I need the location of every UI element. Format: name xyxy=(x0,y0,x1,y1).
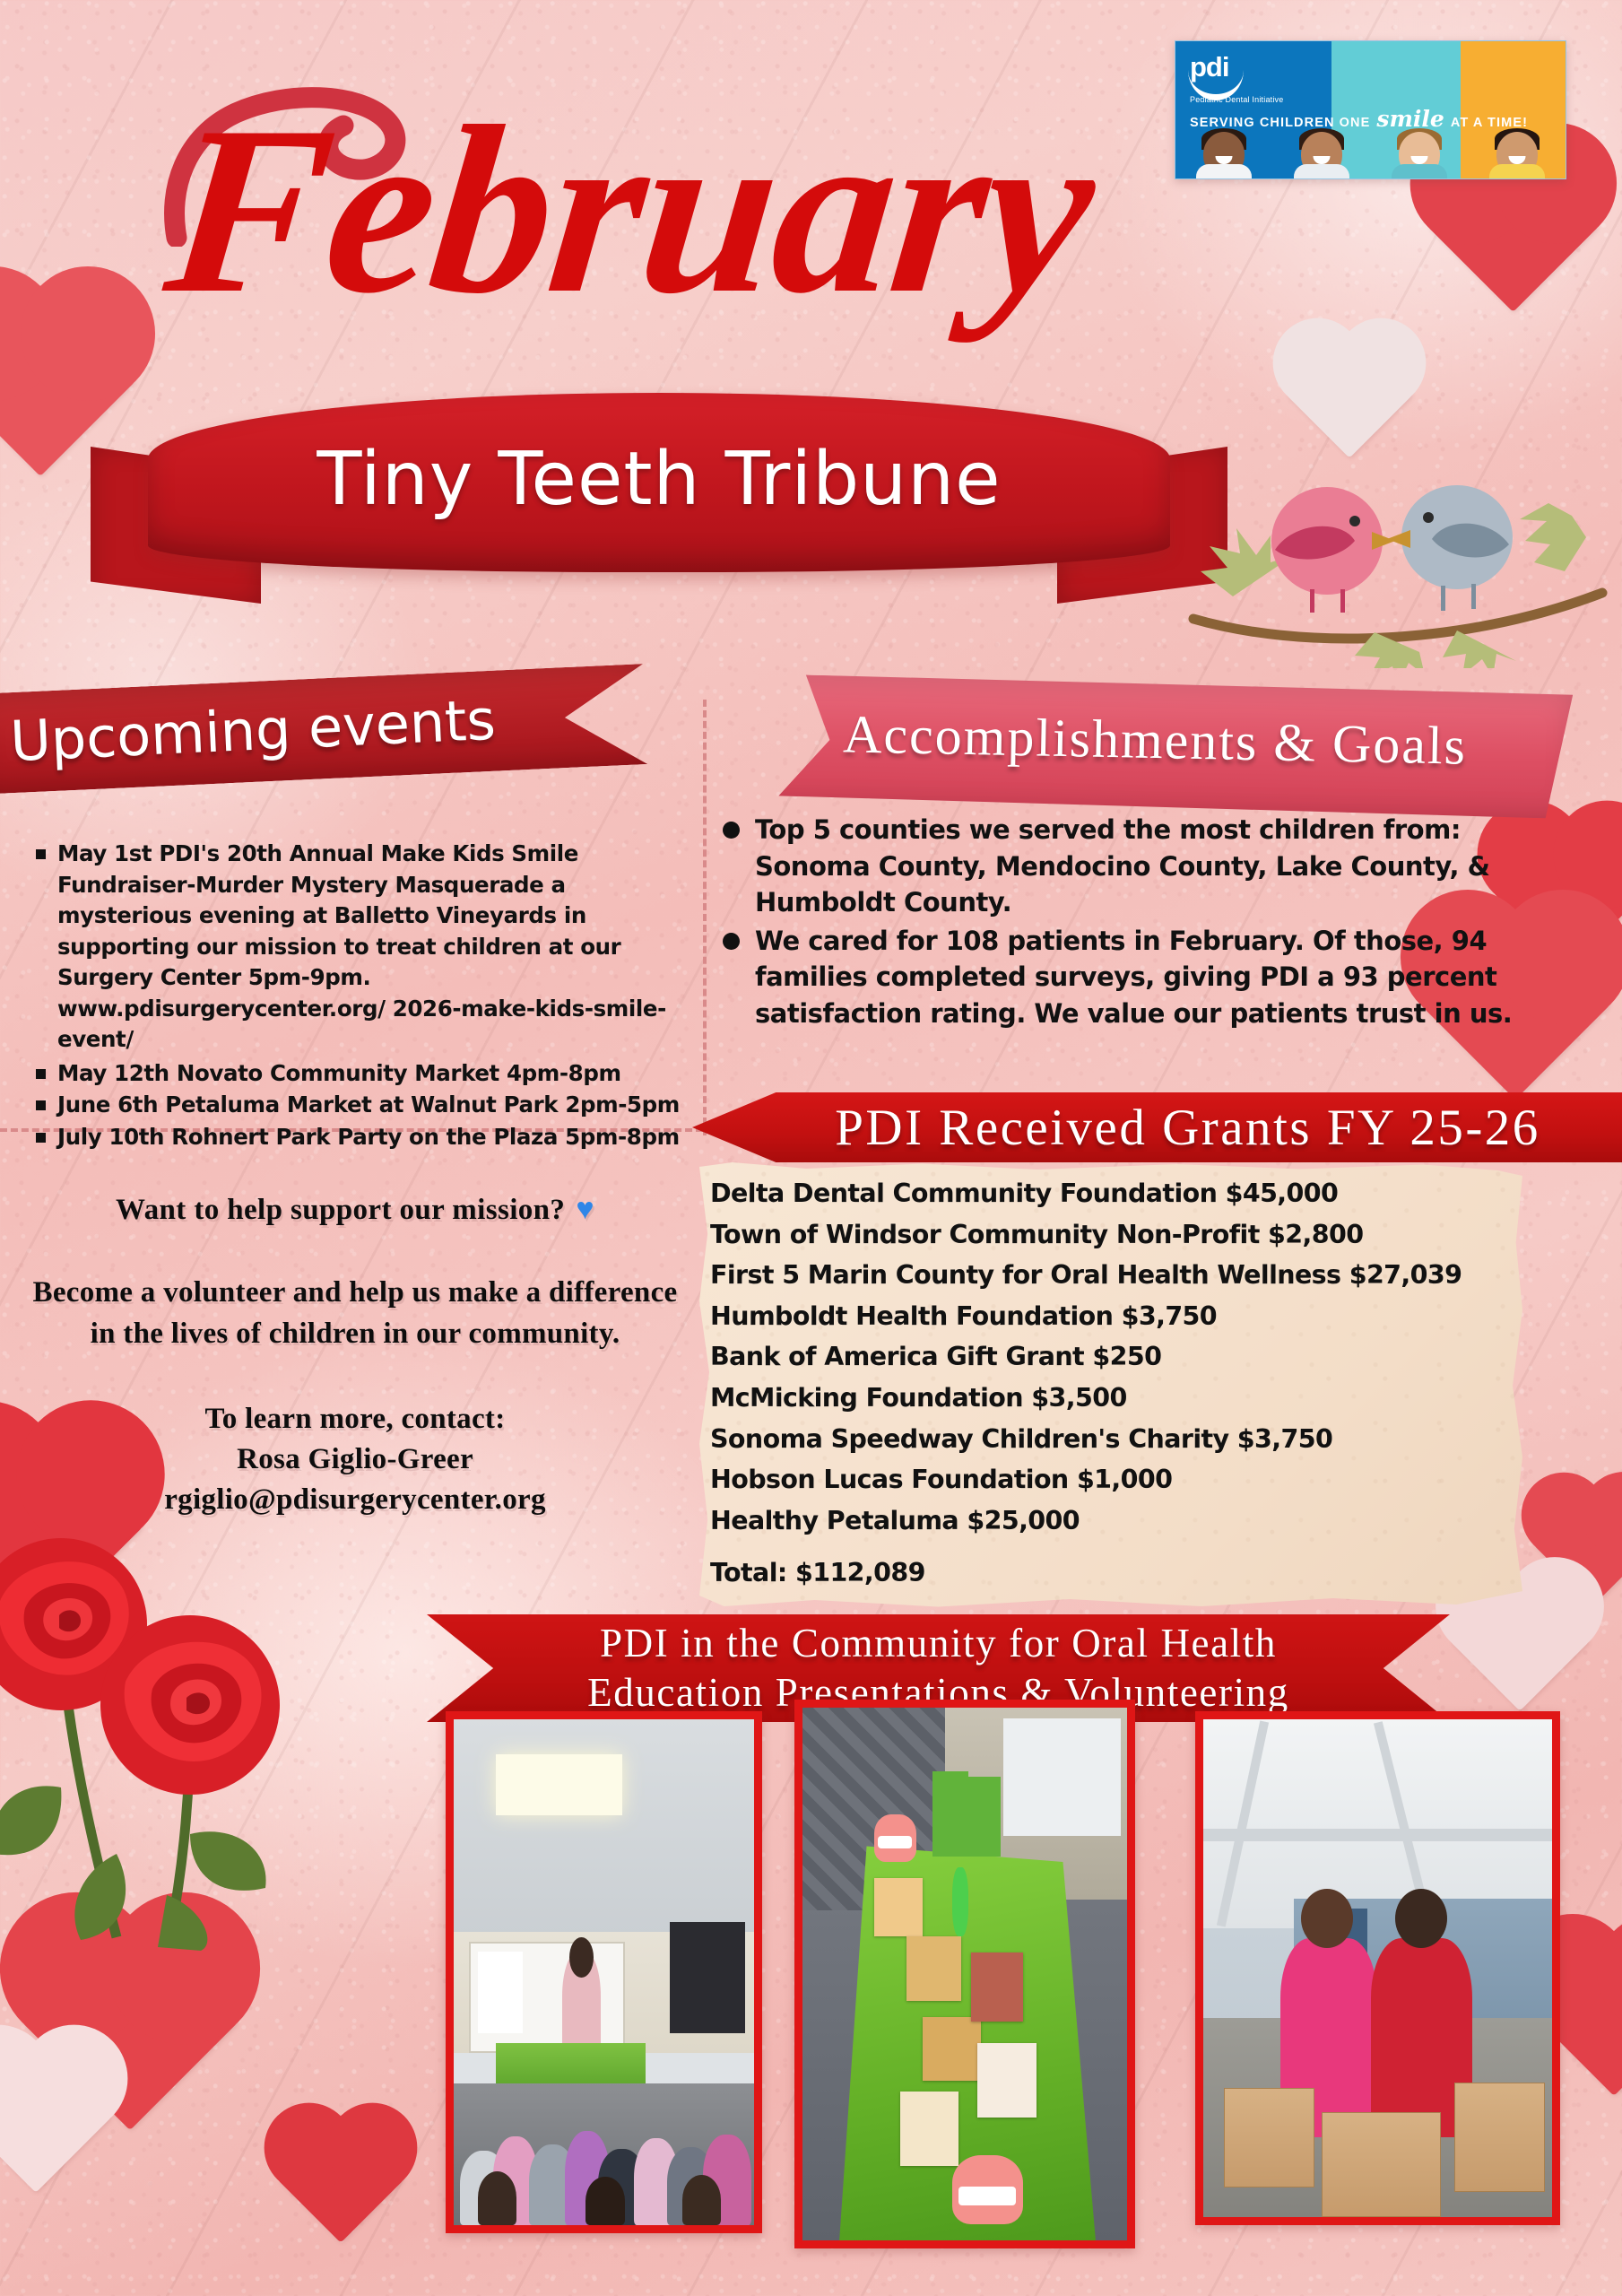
child-face xyxy=(1175,125,1273,178)
list-item: Humboldt Health Foundation $3,750 xyxy=(710,1296,1616,1337)
volunteer-question: Want to help support our mission? xyxy=(116,1194,565,1226)
accomplishments-title: Accomplishments & Goals xyxy=(738,701,1573,779)
contact-intro: To learn more, contact: xyxy=(32,1399,678,1439)
volunteer-question-row: Want to help support our mission?♥ xyxy=(32,1193,678,1227)
newsletter-name: Tiny Teeth Tribune xyxy=(317,437,1001,522)
grants-list: Delta Dental Community Foundation $45,00… xyxy=(710,1173,1616,1541)
accomplishments-list: Top 5 counties we served the most childr… xyxy=(723,812,1583,1034)
upcoming-events-banner: Upcoming events xyxy=(0,664,647,795)
volunteer-body: Become a volunteer and help us make a di… xyxy=(32,1272,678,1354)
heart-decoration xyxy=(1470,1592,1569,1691)
vertical-dashed-divider xyxy=(703,700,707,1135)
photo-display-table xyxy=(794,1700,1135,2248)
list-item: May 12th Novato Community Market 4pm-8pm xyxy=(32,1058,687,1090)
list-item: Bank of America Gift Grant $250 xyxy=(710,1336,1616,1378)
list-item: Delta Dental Community Foundation $45,00… xyxy=(710,1173,1616,1214)
masthead-ribbon: Tiny Teeth Tribune xyxy=(94,393,1224,604)
community-banner-line1: PDI in the Community for Oral Health xyxy=(427,1619,1450,1668)
child-face xyxy=(1371,125,1469,178)
list-item: First 5 Marin County for Oral Health Wel… xyxy=(710,1255,1616,1296)
photo-volunteers-canopy xyxy=(1195,1711,1560,2225)
roses-decoration xyxy=(0,1448,403,1951)
upcoming-events-list: May 1st PDI's 20th Annual Make Kids Smil… xyxy=(32,839,687,1153)
list-item: Hobson Lucas Foundation $1,000 xyxy=(710,1459,1616,1500)
list-item: Healthy Petaluma $25,000 xyxy=(710,1500,1616,1542)
list-item: Town of Windsor Community Non-Profit $2,… xyxy=(710,1214,1616,1256)
heart-decoration xyxy=(54,1946,206,2099)
heart-decoration xyxy=(296,2135,386,2224)
pdi-logo-card: pdi Pediatric Dental Initiative SERVING … xyxy=(1175,40,1566,179)
accomplishments-banner: Accomplishments & Goals xyxy=(737,674,1574,819)
heart-decoration xyxy=(0,2063,90,2170)
list-item: June 6th Petaluma Market at Walnut Park … xyxy=(32,1090,687,1121)
logo-children-photo xyxy=(1175,125,1566,178)
list-item: Top 5 counties we served the most childr… xyxy=(723,812,1583,921)
grants-total: Total: $112,089 xyxy=(710,1558,925,1587)
upcoming-events-title: Upcoming events xyxy=(0,680,646,776)
ribbon-band: Tiny Teeth Tribune xyxy=(148,393,1170,572)
masthead: February Tiny Teeth Tribune pdi Pediatri… xyxy=(0,0,1622,664)
list-item: Sonoma Speedway Children's Charity $3,75… xyxy=(710,1419,1616,1460)
list-item: May 1st PDI's 20th Annual Make Kids Smil… xyxy=(32,839,687,1056)
heart-decoration xyxy=(1556,1955,1622,2072)
love-birds-decoration xyxy=(1188,435,1609,668)
list-item: July 10th Rohnert Park Party on the Plaz… xyxy=(32,1122,687,1153)
photo-classroom-presentation xyxy=(446,1711,762,2233)
grants-title: PDI Received Grants FY 25-26 xyxy=(692,1099,1622,1157)
grants-banner: PDI Received Grants FY 25-26 xyxy=(692,1092,1622,1162)
page-title: February xyxy=(158,90,1169,330)
list-item: McMicking Foundation $3,500 xyxy=(710,1378,1616,1419)
child-face xyxy=(1468,125,1566,178)
blue-heart-icon: ♥ xyxy=(576,1193,594,1226)
child-face xyxy=(1273,125,1371,178)
list-item: We cared for 108 patients in February. O… xyxy=(723,923,1583,1032)
